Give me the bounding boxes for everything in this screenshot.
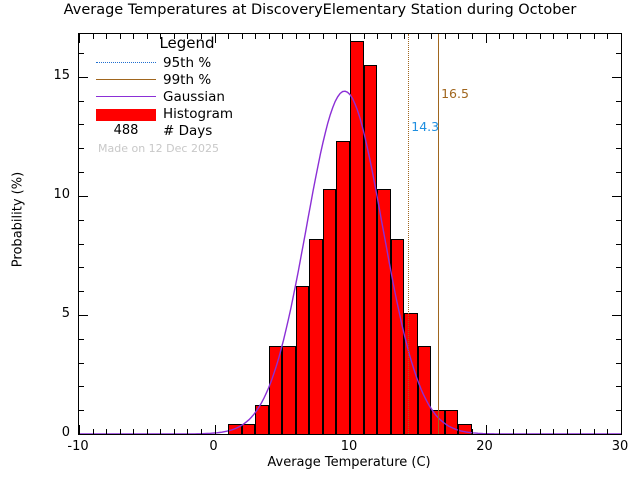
x-tick — [540, 429, 541, 434]
x-tick — [486, 425, 487, 434]
x-tick-top — [472, 34, 473, 39]
curve-line-icon — [96, 90, 156, 104]
legend-label-days: # Days — [163, 123, 212, 139]
y-tick-right — [616, 410, 621, 411]
legend-label-histogram: Histogram — [163, 106, 233, 122]
x-tick — [472, 429, 473, 434]
x-tick-top — [377, 34, 378, 39]
x-tick — [79, 425, 80, 434]
x-tick — [93, 429, 94, 434]
histogram-figure: Average Temperatures at DiscoveryElement… — [0, 0, 640, 480]
x-tick-top — [404, 34, 405, 39]
legend-label-95th: 95th % — [163, 55, 211, 71]
x-tick — [364, 429, 365, 434]
legend-label-99th: 99th % — [163, 72, 211, 88]
x-tick-top — [336, 34, 337, 39]
x-tick-top — [79, 34, 80, 43]
x-tick-top — [93, 34, 94, 39]
x-tick — [458, 429, 459, 434]
x-tick — [621, 425, 622, 434]
y-tick — [79, 434, 88, 435]
dotted-line-icon — [96, 56, 156, 70]
legend-item-99th: 99th % — [96, 71, 306, 88]
legend-label-gaussian: Gaussian — [163, 89, 225, 105]
y-tick-right — [616, 339, 621, 340]
percentile-95-label: 14.3 — [411, 119, 439, 134]
legend-item-95th: 95th % — [96, 54, 306, 71]
y-tick-right — [616, 267, 621, 268]
x-tick-top — [486, 34, 487, 43]
y-tick-right — [616, 124, 621, 125]
y-tick — [79, 77, 88, 78]
y-tick-right — [616, 291, 621, 292]
x-tick-top — [391, 34, 392, 39]
y-tick — [79, 291, 84, 292]
legend: Legend 95th % 99th % Gaussian Histogram … — [96, 34, 306, 155]
solid-line-icon — [96, 73, 156, 87]
x-tick-top — [309, 34, 310, 39]
x-tick — [431, 429, 432, 434]
x-tick-label: 30 — [590, 439, 640, 454]
y-tick-label: 10 — [20, 187, 70, 202]
x-tick-top — [458, 34, 459, 39]
x-tick — [282, 429, 283, 434]
x-tick-top — [621, 34, 622, 43]
y-tick-label: 15 — [20, 68, 70, 83]
x-tick — [120, 429, 121, 434]
chart-title: Average Temperatures at DiscoveryElement… — [0, 2, 640, 18]
y-tick — [79, 267, 84, 268]
x-tick — [445, 429, 446, 434]
x-tick-top — [499, 34, 500, 39]
x-tick — [418, 429, 419, 434]
x-tick — [309, 429, 310, 434]
x-tick — [296, 429, 297, 434]
legend-item-gaussian: Gaussian — [96, 88, 306, 105]
y-tick — [79, 244, 84, 245]
y-tick-right — [616, 101, 621, 102]
percentile-99-line — [438, 34, 439, 434]
made-on-footer: Made on 12 Dec 2025 — [98, 142, 306, 155]
x-tick — [607, 429, 608, 434]
x-tick-top — [553, 34, 554, 39]
y-tick — [79, 124, 84, 125]
x-tick-label: 10 — [319, 439, 379, 454]
y-tick — [79, 53, 84, 54]
x-tick — [269, 429, 270, 434]
red-swatch-icon — [96, 107, 156, 121]
y-tick-right — [612, 196, 621, 197]
y-tick-label: 5 — [20, 306, 70, 321]
y-tick-right — [616, 363, 621, 364]
x-tick-top — [513, 34, 514, 39]
legend-item-days: 488 # Days — [96, 122, 306, 139]
y-tick-right — [616, 148, 621, 149]
x-tick — [526, 429, 527, 434]
x-tick — [594, 429, 595, 434]
x-tick — [133, 429, 134, 434]
x-tick — [499, 429, 500, 434]
x-tick — [215, 425, 216, 434]
x-tick — [242, 429, 243, 434]
x-tick — [580, 429, 581, 434]
x-tick-top — [323, 34, 324, 39]
percentile-95-line — [408, 34, 409, 434]
x-tick — [567, 429, 568, 434]
x-tick — [350, 425, 351, 434]
x-tick — [336, 429, 337, 434]
percentile-99-label: 16.5 — [441, 86, 469, 101]
y-tick — [79, 172, 84, 173]
x-tick — [377, 429, 378, 434]
y-tick-right — [616, 244, 621, 245]
y-axis-label: Probability (%) — [11, 140, 26, 300]
x-tick — [228, 429, 229, 434]
y-tick-right — [616, 53, 621, 54]
y-tick-right — [612, 315, 621, 316]
x-tick — [147, 429, 148, 434]
y-tick — [79, 220, 84, 221]
legend-item-histogram: Histogram — [96, 105, 306, 122]
x-tick-top — [526, 34, 527, 39]
y-tick-right — [616, 220, 621, 221]
x-tick-top — [350, 34, 351, 43]
x-tick-top — [540, 34, 541, 39]
y-tick — [79, 196, 88, 197]
x-tick-top — [607, 34, 608, 39]
y-tick — [79, 386, 84, 387]
x-tick-top — [580, 34, 581, 39]
x-tick — [553, 429, 554, 434]
x-tick — [404, 429, 405, 434]
y-tick — [79, 339, 84, 340]
y-tick-right — [612, 77, 621, 78]
x-tick-top — [431, 34, 432, 39]
x-tick — [201, 429, 202, 434]
x-tick-top — [364, 34, 365, 39]
x-tick — [174, 429, 175, 434]
x-tick-top — [445, 34, 446, 39]
x-tick-top — [418, 34, 419, 39]
x-tick-top — [594, 34, 595, 39]
y-tick — [79, 410, 84, 411]
x-tick — [323, 429, 324, 434]
x-tick-label: -10 — [48, 439, 108, 454]
x-tick — [106, 429, 107, 434]
days-count: 488 — [96, 123, 156, 138]
x-tick — [391, 429, 392, 434]
y-tick-label: 0 — [20, 425, 70, 440]
x-tick — [160, 429, 161, 434]
x-axis-label: Average Temperature (C) — [78, 455, 620, 470]
y-tick — [79, 148, 84, 149]
legend-title: Legend — [102, 34, 272, 52]
x-tick — [513, 429, 514, 434]
x-tick — [255, 429, 256, 434]
y-tick — [79, 101, 84, 102]
y-tick-right — [616, 386, 621, 387]
x-tick-top — [567, 34, 568, 39]
x-tick-label: 20 — [455, 439, 515, 454]
y-tick — [79, 363, 84, 364]
y-tick — [79, 315, 88, 316]
x-tick-label: 0 — [184, 439, 244, 454]
y-tick-right — [612, 434, 621, 435]
y-tick-right — [616, 172, 621, 173]
x-tick — [187, 429, 188, 434]
